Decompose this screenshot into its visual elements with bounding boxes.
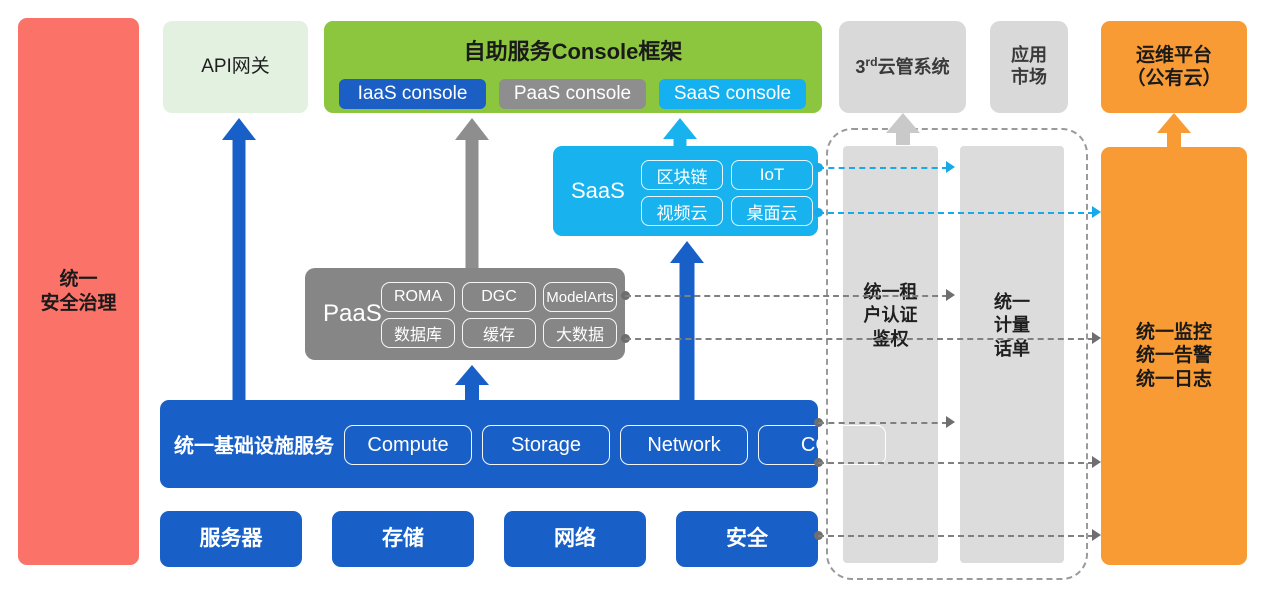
arrow-infra-to-paas (455, 365, 489, 402)
tag-bigdata[interactable]: 大数据 (543, 318, 617, 348)
left-panel-line2: 安全治理 (40, 292, 116, 315)
panel-unified-security-governance[interactable]: 统一 安全治理 (18, 18, 139, 565)
ops-platform-line2: （公有云） (1126, 67, 1221, 90)
arrow-infra-to-saas (670, 241, 704, 402)
panel-third-party-cloud-management[interactable]: 3rd云管系统 (839, 21, 966, 113)
architecture-diagram: 统一 安全治理 API网关 自助服务Console框架 IaaS console… (0, 0, 1265, 605)
right-panel-line2: 统一告警 (1136, 344, 1212, 367)
line-paas-to-auth (625, 295, 948, 297)
chip-paas-console[interactable]: PaaS console (499, 79, 646, 109)
tag-modelarts-label: ModelArts (546, 289, 614, 306)
tag-compute[interactable]: Compute (344, 425, 472, 465)
third-party-cloud-label: 云管系统 (878, 57, 950, 77)
arrow-paas-to-console (455, 118, 489, 268)
metering-line3: 话单 (960, 338, 1064, 361)
panel-ops-platform[interactable]: 运维平台 （公有云） (1101, 21, 1247, 113)
column-unified-tenant-auth[interactable] (843, 146, 938, 563)
tag-iot[interactable]: IoT (731, 160, 813, 190)
block-network[interactable]: 网络 (504, 511, 646, 567)
tag-iot-label: IoT (760, 165, 785, 185)
tag-bigdata-label: 大数据 (556, 321, 604, 345)
line-infra-to-ops (818, 462, 1094, 464)
ops-platform-line1: 运维平台 (1126, 44, 1221, 67)
block-network-label: 网络 (554, 526, 596, 552)
app-market-line2: 市场 (1011, 67, 1047, 89)
third-party-cloud-sup: rd (865, 55, 877, 69)
tag-desktop-cloud-label: 桌面云 (747, 199, 798, 224)
tag-dgc-label: DGC (481, 288, 517, 306)
block-security[interactable]: 安全 (676, 511, 818, 567)
auth-line1: 统一租 (843, 281, 938, 304)
arrow-saas-to-console (663, 118, 697, 146)
tag-database-label: 数据库 (394, 321, 442, 345)
third-party-cloud-prefix: 3 (855, 57, 865, 77)
panel-app-market[interactable]: 应用 市场 (990, 21, 1068, 113)
block-security-label: 安全 (726, 526, 768, 552)
tag-cce-label: CCE (801, 434, 843, 457)
line-paas-to-ops (625, 338, 1094, 340)
arrow-shared-to-third-party-cloud (886, 113, 920, 145)
tag-storage-label: Storage (511, 434, 581, 457)
saas-label: SaaS (571, 178, 625, 204)
chip-paas-console-label: PaaS console (514, 83, 631, 105)
tag-cache[interactable]: 缓存 (462, 318, 536, 348)
tag-desktop-cloud[interactable]: 桌面云 (731, 196, 813, 226)
arrowhead-paas-to-auth (946, 289, 955, 301)
block-server[interactable]: 服务器 (160, 511, 302, 567)
tag-network[interactable]: Network (620, 425, 748, 465)
panel-console-framework[interactable]: 自助服务Console框架 IaaS console PaaS console … (324, 21, 822, 113)
block-storage-label: 存储 (382, 526, 424, 552)
chip-iaas-console[interactable]: IaaS console (339, 79, 486, 109)
arrowhead-saas-to-ops (1092, 206, 1101, 218)
api-gateway-label: API网关 (201, 55, 270, 78)
tag-blockchain[interactable]: 区块链 (641, 160, 723, 190)
tag-roma-label: ROMA (394, 288, 442, 306)
metering-line1: 统一 (960, 291, 1064, 314)
tag-dgc[interactable]: DGC (462, 282, 536, 312)
right-panel-line1: 统一监控 (1136, 321, 1212, 344)
line-infra-to-auth (818, 422, 948, 424)
line-saas-to-ops (818, 212, 1094, 214)
panel-unified-monitoring[interactable]: 统一监控 统一告警 统一日志 (1101, 147, 1247, 565)
arrow-monitoring-to-ops-platform (1157, 113, 1191, 147)
column-unified-metering-billing-label: 统一 计量 话单 (960, 291, 1064, 361)
tag-network-label: Network (647, 434, 720, 457)
tag-compute-label: Compute (367, 434, 448, 457)
block-paas[interactable]: PaaS ROMA DGC ModelArts 数据库 缓存 大数据 (305, 268, 625, 360)
tag-modelarts[interactable]: ModelArts (543, 282, 617, 312)
tag-blockchain-label: 区块链 (657, 163, 708, 188)
arrowhead-paas-to-ops (1092, 332, 1101, 344)
tag-video-cloud[interactable]: 视频云 (641, 196, 723, 226)
block-saas[interactable]: SaaS 区块链 IoT 视频云 桌面云 (553, 146, 818, 236)
arrowhead-hardware-to-ops (1092, 529, 1101, 541)
block-storage[interactable]: 存储 (332, 511, 474, 567)
auth-line2: 户认证 (843, 304, 938, 327)
line-hardware-to-ops (818, 535, 1094, 537)
tag-database[interactable]: 数据库 (381, 318, 455, 348)
line-saas-to-auth (818, 167, 948, 169)
column-unified-tenant-auth-label: 统一租 户认证 鉴权 (843, 281, 938, 351)
arrow-infra-to-api-gateway (222, 118, 256, 400)
tag-video-cloud-label: 视频云 (657, 199, 708, 224)
arrowhead-saas-to-auth (946, 161, 955, 173)
app-market-line1: 应用 (1011, 45, 1047, 67)
infrastructure-label: 统一基础设施服务 (174, 430, 334, 459)
metering-line2: 计量 (960, 314, 1064, 337)
tag-roma[interactable]: ROMA (381, 282, 455, 312)
arrowhead-infra-to-auth (946, 416, 955, 428)
left-panel-line1: 统一 (40, 268, 116, 291)
panel-api-gateway[interactable]: API网关 (163, 21, 308, 113)
console-framework-title: 自助服务Console框架 (324, 34, 822, 66)
arrowhead-infra-to-ops (1092, 456, 1101, 468)
tag-cache-label: 缓存 (483, 321, 515, 345)
tag-storage[interactable]: Storage (482, 425, 610, 465)
paas-label: PaaS (323, 300, 382, 328)
chip-saas-console-label: SaaS console (674, 83, 791, 105)
bar-unified-infrastructure-services[interactable]: 统一基础设施服务 Compute Storage Network CCE (160, 400, 818, 488)
chip-saas-console[interactable]: SaaS console (659, 79, 806, 109)
block-server-label: 服务器 (200, 526, 263, 552)
chip-iaas-console-label: IaaS console (358, 83, 468, 105)
right-panel-line3: 统一日志 (1136, 368, 1212, 391)
